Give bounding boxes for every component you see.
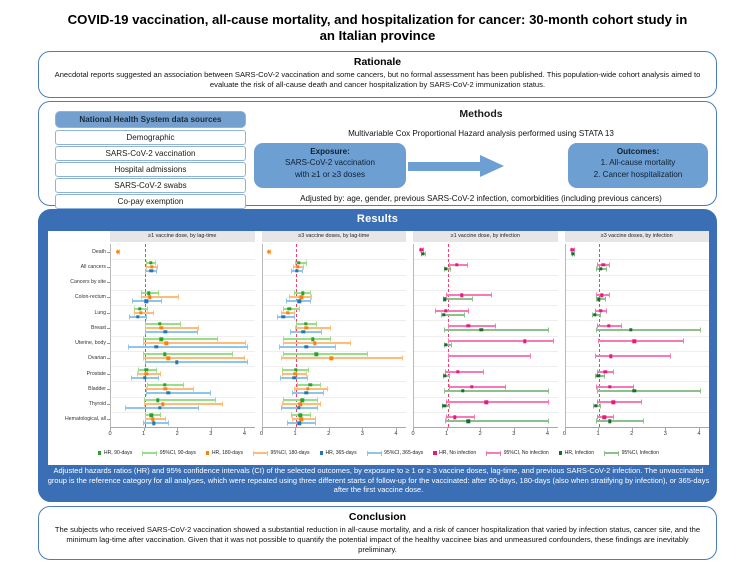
chart-panels: ≥1 vaccine dose, by lag-time01234≥3 vacc…: [110, 231, 709, 445]
forest-panel-plot: [565, 244, 710, 427]
gridline: [566, 320, 710, 321]
confidence-interval-cap: [335, 345, 336, 350]
hazard-ratio-point: [298, 402, 301, 405]
hazard-ratio-point: [163, 353, 166, 356]
hazard-ratio-point: [461, 389, 464, 392]
confidence-interval-cap: [445, 419, 446, 424]
confidence-interval-cap: [495, 323, 496, 328]
methods-heading: Methods: [246, 108, 716, 120]
gridline: [566, 305, 710, 306]
hazard-ratio-point: [460, 294, 463, 297]
confidence-interval-cap: [134, 310, 135, 315]
hazard-ratio-point: [571, 252, 574, 255]
gridline: [111, 366, 255, 367]
exposure-title: Exposure:: [310, 147, 350, 156]
x-axis-tick-label: 3: [664, 431, 667, 437]
hazard-ratio-point: [160, 338, 163, 341]
outcome-line-2: 2. Cancer hospitalization: [594, 170, 683, 179]
confidence-interval-cap: [605, 297, 606, 302]
rationale-text: Anecdotal reports suggested an associati…: [39, 70, 716, 95]
confidence-interval-cap: [183, 382, 184, 387]
confidence-interval-cap: [281, 356, 282, 361]
hazard-ratio-point: [166, 391, 169, 394]
confidence-interval: [595, 355, 670, 357]
methods-adjusted-text: Adjusted by: age, gender, previous SARS-…: [246, 194, 716, 203]
gridline: [566, 290, 710, 291]
hazard-ratio-point: [282, 315, 285, 318]
gridline: [566, 336, 710, 337]
hazard-ratio-point: [443, 298, 446, 301]
confidence-interval-cap: [310, 299, 311, 304]
hazard-ratio-point: [304, 322, 307, 325]
forest-panel-3: ≥1 vaccine dose, by infection01234: [413, 231, 558, 445]
hazard-ratio-point: [138, 307, 141, 310]
confidence-interval: [281, 357, 402, 359]
confidence-interval-cap: [280, 375, 281, 380]
confidence-interval-cap: [330, 325, 331, 330]
results-panel: Results DeathAll cancersCancers by siteC…: [38, 209, 717, 502]
confidence-interval-cap: [302, 268, 303, 273]
hazard-ratio-point: [296, 265, 299, 268]
confidence-interval-cap: [548, 400, 549, 405]
legend-marker-icon: [559, 451, 562, 454]
confidence-interval-cap: [143, 341, 144, 346]
confidence-interval-cap: [141, 295, 142, 300]
hazard-ratio-point: [301, 292, 304, 295]
gridline: [111, 351, 255, 352]
hazard-ratio-point: [608, 385, 611, 388]
x-axis-tick-label: 2: [630, 431, 633, 437]
legend-marker-icon: [206, 451, 209, 454]
confidence-interval-cap: [146, 390, 147, 395]
legend-label: HR, 365-days: [326, 450, 357, 456]
confidence-interval-cap: [215, 398, 216, 403]
confidence-interval-cap: [307, 375, 308, 380]
hazard-ratio-point: [164, 387, 167, 390]
confidence-interval: [137, 373, 160, 375]
gridline: [263, 275, 407, 276]
confidence-interval: [128, 346, 247, 348]
confidence-interval: [446, 294, 491, 296]
confidence-interval: [444, 329, 549, 331]
confidence-interval-cap: [282, 402, 283, 407]
hazard-ratio-point: [304, 391, 307, 394]
outcomes-box: Outcomes: 1. All-cause mortality 2. Canc…: [568, 143, 708, 188]
confidence-interval-cap: [294, 314, 295, 319]
confidence-interval: [597, 401, 641, 403]
hazard-ratio-point: [158, 322, 161, 325]
x-axis-tick-label: 1: [294, 431, 297, 437]
confidence-interval-cap: [131, 375, 132, 380]
hazard-ratio-point: [298, 300, 301, 303]
gridline: [414, 320, 558, 321]
y-axis-label-death: Death: [92, 249, 106, 255]
data-sources-list: National Health System data sources Demo…: [39, 104, 246, 205]
gridline: [263, 412, 407, 413]
hazard-ratio-point: [421, 252, 424, 255]
confidence-interval-cap: [222, 402, 223, 407]
x-axis-tick-label: 1: [597, 431, 600, 437]
gridline: [414, 412, 558, 413]
hazard-ratio-point: [315, 353, 318, 356]
confidence-interval: [445, 371, 483, 373]
confidence-interval-cap: [289, 295, 290, 300]
confidence-interval-cap: [597, 415, 598, 420]
forest-panel-plot: [110, 244, 255, 427]
reference-line: [448, 244, 449, 427]
confidence-interval-cap: [449, 404, 450, 409]
confidence-interval-cap: [700, 388, 701, 393]
hazard-ratio-point: [165, 341, 168, 344]
y-axis-label-ovarian: Ovarian: [88, 355, 106, 361]
confidence-interval-cap: [606, 308, 607, 313]
hazard-ratio-point: [444, 343, 447, 346]
y-axis-label-uterine-body: Uterine, body: [75, 340, 106, 346]
confidence-interval-cap: [402, 356, 403, 361]
confidence-interval: [144, 399, 215, 401]
x-axis-tick-label: 4: [243, 431, 246, 437]
confidence-interval: [445, 420, 549, 422]
hazard-ratio-point: [523, 339, 526, 342]
hazard-ratio-point: [442, 313, 445, 316]
y-axis-label-breast: Breast: [91, 325, 106, 331]
y-axis-label-all-cancers: All cancers: [81, 264, 106, 270]
confidence-interval-cap: [153, 310, 154, 315]
x-axis-tick-label: 3: [209, 431, 212, 437]
hazard-ratio-point: [467, 420, 470, 423]
confidence-interval-cap: [317, 398, 318, 403]
hazard-ratio-point: [286, 311, 289, 314]
gridline: [414, 336, 558, 337]
forest-panel-plot: [262, 244, 407, 427]
confidence-interval-cap: [317, 406, 318, 411]
hazard-ratio-point: [453, 416, 456, 419]
x-axis-line: [413, 427, 558, 428]
confidence-interval: [141, 296, 178, 298]
hazard-ratio-point: [601, 263, 604, 266]
confidence-interval-cap: [128, 345, 129, 350]
confidence-interval-cap: [596, 266, 597, 271]
gridline: [263, 305, 407, 306]
legend-line-icon: [253, 452, 268, 454]
legend-marker-icon: [320, 451, 323, 454]
confidence-interval: [446, 416, 475, 418]
confidence-interval: [290, 331, 321, 333]
x-axis-tick-label: 1: [445, 431, 448, 437]
gridline: [566, 381, 710, 382]
gridline: [111, 259, 255, 260]
confidence-interval-cap: [553, 339, 554, 344]
confidence-interval-cap: [145, 268, 146, 273]
hazard-ratio-point: [633, 339, 636, 342]
confidence-interval-cap: [210, 390, 211, 395]
confidence-interval-cap: [320, 382, 321, 387]
hazard-ratio-point: [152, 422, 155, 425]
confidence-interval: [125, 407, 198, 409]
confidence-interval-cap: [449, 373, 450, 378]
hazard-ratio-point: [299, 418, 302, 421]
confidence-interval-cap: [468, 308, 469, 313]
y-axis-label-hematological-all: Hematological, all: [65, 416, 106, 422]
x-axis-tick-label: 3: [361, 431, 364, 437]
hazard-ratio-point: [160, 326, 163, 329]
legend-item: 95%CI, 180-days: [253, 450, 310, 456]
gridline: [414, 305, 558, 306]
hazard-ratio-point: [467, 324, 470, 327]
hazard-ratio-point: [607, 324, 610, 327]
forest-plot-chart: DeathAll cancersCancers by siteColon-rec…: [48, 231, 709, 465]
gridline: [263, 259, 407, 260]
forest-panel-title: ≥3 vaccine doses, by lag-time: [262, 231, 407, 242]
confidence-interval: [448, 340, 553, 342]
legend-label: HR, No infection: [439, 450, 476, 456]
confidence-interval-cap: [247, 360, 248, 365]
conclusion-heading: Conclusion: [39, 511, 716, 523]
y-axis-label-colon-rectum: Colon-rectum: [75, 294, 106, 300]
hazard-ratio-point: [470, 385, 473, 388]
x-axis-line: [110, 427, 255, 428]
x-axis-tick-label: 0: [411, 431, 414, 437]
confidence-interval-cap: [321, 329, 322, 334]
confidence-interval-cap: [467, 262, 468, 267]
confidence-interval-cap: [161, 299, 162, 304]
confidence-interval-cap: [643, 419, 644, 424]
hazard-ratio-point: [608, 420, 611, 423]
x-axis-tick-label: 2: [327, 431, 330, 437]
hazard-ratio-point: [147, 292, 150, 295]
exposure-line-2: with ≥1 or ≥3 doses: [295, 170, 365, 179]
confidence-interval-cap: [299, 306, 300, 311]
confidence-interval-cap: [147, 382, 148, 387]
hazard-ratio-point: [150, 414, 153, 417]
legend-label: HR, Infection: [565, 450, 594, 456]
hazard-ratio-point: [175, 361, 178, 364]
x-axis-line: [565, 427, 710, 428]
confidence-interval-cap: [178, 295, 179, 300]
hazard-ratio-point: [444, 309, 447, 312]
confidence-interval-cap: [641, 400, 642, 405]
confidence-interval-cap: [323, 390, 324, 395]
hazard-ratio-point: [161, 402, 164, 405]
confidence-interval-cap: [425, 251, 426, 256]
gridline: [566, 351, 710, 352]
confidence-interval: [598, 340, 683, 342]
legend-item: HR, 365-days: [320, 450, 357, 456]
hazard-ratio-point: [294, 368, 297, 371]
hazard-ratio-point: [155, 345, 158, 348]
forest-panel-title: ≥3 vaccine doses, by infection: [565, 231, 710, 242]
confidence-interval-cap: [449, 384, 450, 389]
x-axis-tick-label: 0: [563, 431, 566, 437]
confidence-interval-cap: [604, 373, 605, 378]
y-axis-label-bladder: Bladder: [88, 386, 106, 392]
hazard-ratio-point: [302, 330, 305, 333]
confidence-interval-cap: [283, 398, 284, 403]
confidence-interval-cap: [621, 323, 622, 328]
legend-item: 95%CI, Infection: [604, 450, 659, 456]
hazard-ratio-point: [139, 311, 142, 314]
confidence-interval: [145, 331, 196, 333]
confidence-interval-cap: [232, 352, 233, 357]
confidence-interval-cap: [472, 297, 473, 302]
legend-label: 95%CI, 90-days: [160, 450, 196, 456]
confidence-interval-cap: [548, 388, 549, 393]
confidence-interval-cap: [311, 295, 312, 300]
confidence-interval: [145, 323, 180, 325]
confidence-interval-cap: [132, 299, 133, 304]
confidence-interval: [596, 386, 632, 388]
confidence-interval-cap: [613, 369, 614, 374]
confidence-interval-cap: [448, 323, 449, 328]
confidence-interval-cap: [320, 402, 321, 407]
hazard-ratio-point: [456, 370, 459, 373]
confidence-interval-cap: [286, 299, 287, 304]
confidence-interval-cap: [165, 417, 166, 422]
confidence-interval-cap: [327, 386, 328, 391]
confidence-interval-cap: [146, 264, 147, 269]
gridline: [111, 320, 255, 321]
x-axis-tick-label: 1: [142, 431, 145, 437]
hazard-ratio-point: [136, 315, 139, 318]
gridline: [414, 381, 558, 382]
confidence-interval-cap: [297, 382, 298, 387]
gridline: [263, 290, 407, 291]
hazard-ratio-point: [163, 383, 166, 386]
confidence-interval-cap: [451, 343, 452, 348]
confidence-interval-cap: [606, 266, 607, 271]
data-source-item-demographic: Demographic: [55, 130, 246, 145]
hazard-ratio-point: [443, 404, 446, 407]
confidence-interval-cap: [145, 360, 146, 365]
hazard-ratio-point: [600, 294, 603, 297]
confidence-interval: [146, 388, 193, 390]
confidence-interval-cap: [287, 421, 288, 426]
confidence-interval-cap: [158, 375, 159, 380]
hazard-ratio-point: [594, 404, 597, 407]
y-axis-label-lung: Lung: [94, 310, 106, 316]
hazard-ratio-point: [156, 399, 159, 402]
gridline: [414, 351, 558, 352]
forest-panel-1: ≥1 vaccine dose, by lag-time01234: [110, 231, 255, 445]
page-title: COVID-19 vaccination, all-cause mortalit…: [0, 0, 755, 50]
forest-plot-card: DeathAll cancersCancers by siteColon-rec…: [48, 231, 709, 465]
confidence-interval-cap: [157, 264, 158, 269]
confidence-interval-cap: [310, 413, 311, 418]
hazard-ratio-point: [150, 269, 153, 272]
legend-marker-icon: [433, 451, 436, 454]
confidence-interval-cap: [600, 404, 601, 409]
methods-analysis-text: Multivariable Cox Proportional Hazard an…: [246, 129, 716, 138]
confidence-interval-cap: [198, 325, 199, 330]
hazard-ratio-point: [485, 400, 488, 403]
confidence-interval: [283, 353, 367, 355]
hazard-ratio-point: [311, 338, 314, 341]
confidence-interval: [277, 316, 295, 318]
data-sources-header: National Health System data sources: [55, 111, 246, 128]
forest-panel-plot: [413, 244, 558, 427]
confidence-interval-cap: [613, 415, 614, 420]
confidence-interval-cap: [505, 384, 506, 389]
reference-line: [599, 244, 600, 427]
confidence-interval: [444, 390, 548, 392]
legend-item: HR, 180-days: [206, 450, 243, 456]
confidence-interval-cap: [279, 345, 280, 350]
confidence-interval-cap: [464, 312, 465, 317]
flow-arrow-icon: [408, 160, 506, 172]
legend-label: 95%CI, 180-days: [271, 450, 310, 456]
confidence-interval-cap: [600, 312, 601, 317]
outcome-line-1: 1. All-cause mortality: [601, 158, 676, 167]
hazard-ratio-point: [599, 267, 602, 270]
gridline: [566, 412, 710, 413]
confidence-interval-cap: [315, 421, 316, 426]
hazard-ratio-point: [609, 355, 612, 358]
y-axis-label-prostate: Prostate: [87, 371, 106, 377]
hazard-ratio-point: [629, 328, 632, 331]
confidence-interval: [143, 357, 244, 359]
confidence-interval-cap: [491, 293, 492, 298]
hazard-ratio-point: [150, 265, 153, 268]
hazard-ratio-point: [304, 326, 307, 329]
y-axis-label-thyroid: Thyroid: [89, 401, 106, 407]
legend-item: 95%CI, No infection: [486, 450, 549, 456]
confidence-interval: [446, 401, 548, 403]
confidence-interval: [144, 403, 222, 405]
hazard-ratio-point: [145, 372, 148, 375]
hazard-ratio-point: [116, 250, 119, 253]
hazard-ratio-point: [267, 250, 270, 253]
hazard-ratio-point: [145, 368, 148, 371]
confidence-interval: [448, 325, 495, 327]
confidence-interval-cap: [700, 327, 701, 332]
confidence-interval: [448, 355, 530, 357]
hazard-ratio-point: [293, 376, 296, 379]
confidence-interval: [596, 420, 642, 422]
gridline: [414, 366, 558, 367]
legend-item: HR, 90-days: [98, 450, 132, 456]
hazard-ratio-point: [297, 406, 300, 409]
hazard-ratio-point: [306, 387, 309, 390]
confidence-interval-cap: [129, 314, 130, 319]
confidence-interval-cap: [316, 321, 317, 326]
confidence-interval-cap: [198, 406, 199, 411]
chart-y-axis: DeathAll cancersCancers by siteColon-rec…: [48, 231, 110, 427]
confidence-interval-cap: [217, 337, 218, 342]
legend-label: HR, 90-days: [104, 450, 132, 456]
confidence-interval-cap: [292, 417, 293, 422]
data-source-item-copay-exemption: Co-pay exemption: [55, 194, 246, 209]
gridline: [111, 305, 255, 306]
confidence-interval: [596, 329, 700, 331]
hazard-ratio-point: [602, 416, 605, 419]
confidence-interval-cap: [158, 291, 159, 296]
confidence-interval-cap: [137, 371, 138, 376]
confidence-interval-cap: [596, 419, 597, 424]
x-axis-tick-label: 4: [394, 431, 397, 437]
hazard-ratio-point: [149, 261, 152, 264]
confidence-interval-cap: [450, 266, 451, 271]
legend-line-icon: [486, 452, 501, 454]
confidence-interval: [145, 361, 247, 363]
confidence-interval-cap: [180, 321, 181, 326]
confidence-interval-cap: [143, 421, 144, 426]
confidence-interval-cap: [444, 327, 445, 332]
hazard-ratio-point: [298, 422, 301, 425]
confidence-interval-cap: [160, 413, 161, 418]
legend-item: HR, No infection: [433, 450, 476, 456]
confidence-interval-cap: [609, 293, 610, 298]
confidence-interval: [145, 327, 198, 329]
